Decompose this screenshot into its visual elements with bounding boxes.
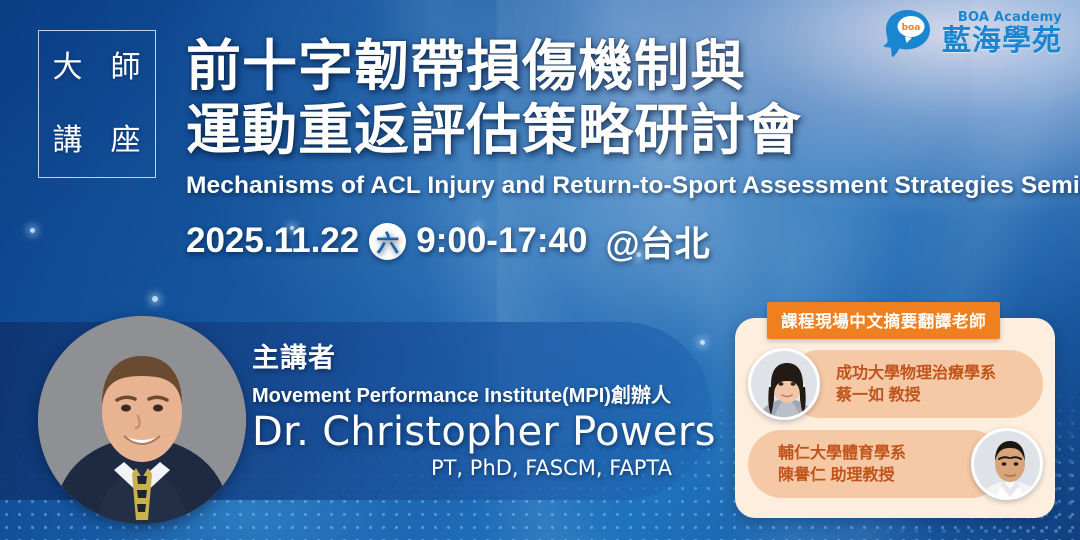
speaker-role-label: 主講者 <box>252 336 672 375</box>
title-line-2: 運動重返評估策略研討會 <box>186 98 1056 162</box>
logo-name-cn: 藍海學苑 <box>942 27 1062 56</box>
translator-row: 輔仁大學體育學系 陳譽仁 助理教授 <box>748 428 1043 500</box>
event-date: 2025.11.22 <box>186 221 359 261</box>
badge-char-3: 講 <box>53 126 84 156</box>
head-speech-bubble-icon: boa <box>881 6 935 60</box>
boa-academy-logo: boa BOA Academy 藍海學苑 <box>881 6 1062 60</box>
translator-affiliation: 成功大學物理治療學系 <box>836 363 996 385</box>
speaker-organization: Movement Performance Institute(MPI)創辦人 <box>252 379 672 408</box>
badge-char-4: 座 <box>111 126 142 156</box>
speaker-avatar <box>38 316 246 524</box>
event-weekday-chip: 六 <box>369 223 406 260</box>
translators-header: 課程現場中文摘要翻譯老師 <box>767 302 1000 339</box>
speaker-credentials: PT, PhD, FASCM, FAPTA <box>252 456 672 480</box>
sparkle-dot <box>700 340 705 345</box>
speaker-name: Dr. Christopher Powers <box>252 409 672 455</box>
translator-name: 陳譽仁 助理教授 <box>778 465 906 487</box>
logo-wordmark: BOA Academy 藍海學苑 <box>942 11 1062 56</box>
title-subtitle-english: Mechanisms of ACL Injury and Return-to-S… <box>186 172 1056 200</box>
logo-name-en: BOA Academy <box>958 11 1062 24</box>
badge-char-2: 師 <box>111 53 142 83</box>
speaker-info: 主講者 Movement Performance Institute(MPI)創… <box>252 336 672 480</box>
event-time: 9:00-17:40 <box>416 221 587 261</box>
svg-text:boa: boa <box>902 23 921 33</box>
event-location: @台北 <box>605 216 709 267</box>
sparkle-dot <box>30 228 35 233</box>
sparkle-dot <box>152 296 158 302</box>
badge-char-1: 大 <box>53 53 84 83</box>
event-datetime-line: 2025.11.22 六 9:00-17:40 @台北 <box>186 216 1056 267</box>
seminar-poster: 大 師 講 座 前十字韌帶損傷機制與 運動重返評估策略研討會 Mechanism… <box>0 0 1080 540</box>
translator-avatar <box>748 348 820 420</box>
translator-avatar <box>971 428 1043 500</box>
translator-text: 輔仁大學體育學系 陳譽仁 助理教授 <box>778 443 906 486</box>
translator-row: 成功大學物理治療學系 蔡一如 教授 <box>748 348 1043 420</box>
translator-affiliation: 輔仁大學體育學系 <box>778 443 906 465</box>
master-lecture-badge: 大 師 講 座 <box>38 30 156 178</box>
title-block: 前十字韌帶損傷機制與 運動重返評估策略研討會 Mechanisms of ACL… <box>186 34 1056 267</box>
translator-name: 蔡一如 教授 <box>836 385 996 407</box>
translator-text: 成功大學物理治療學系 蔡一如 教授 <box>836 363 996 406</box>
